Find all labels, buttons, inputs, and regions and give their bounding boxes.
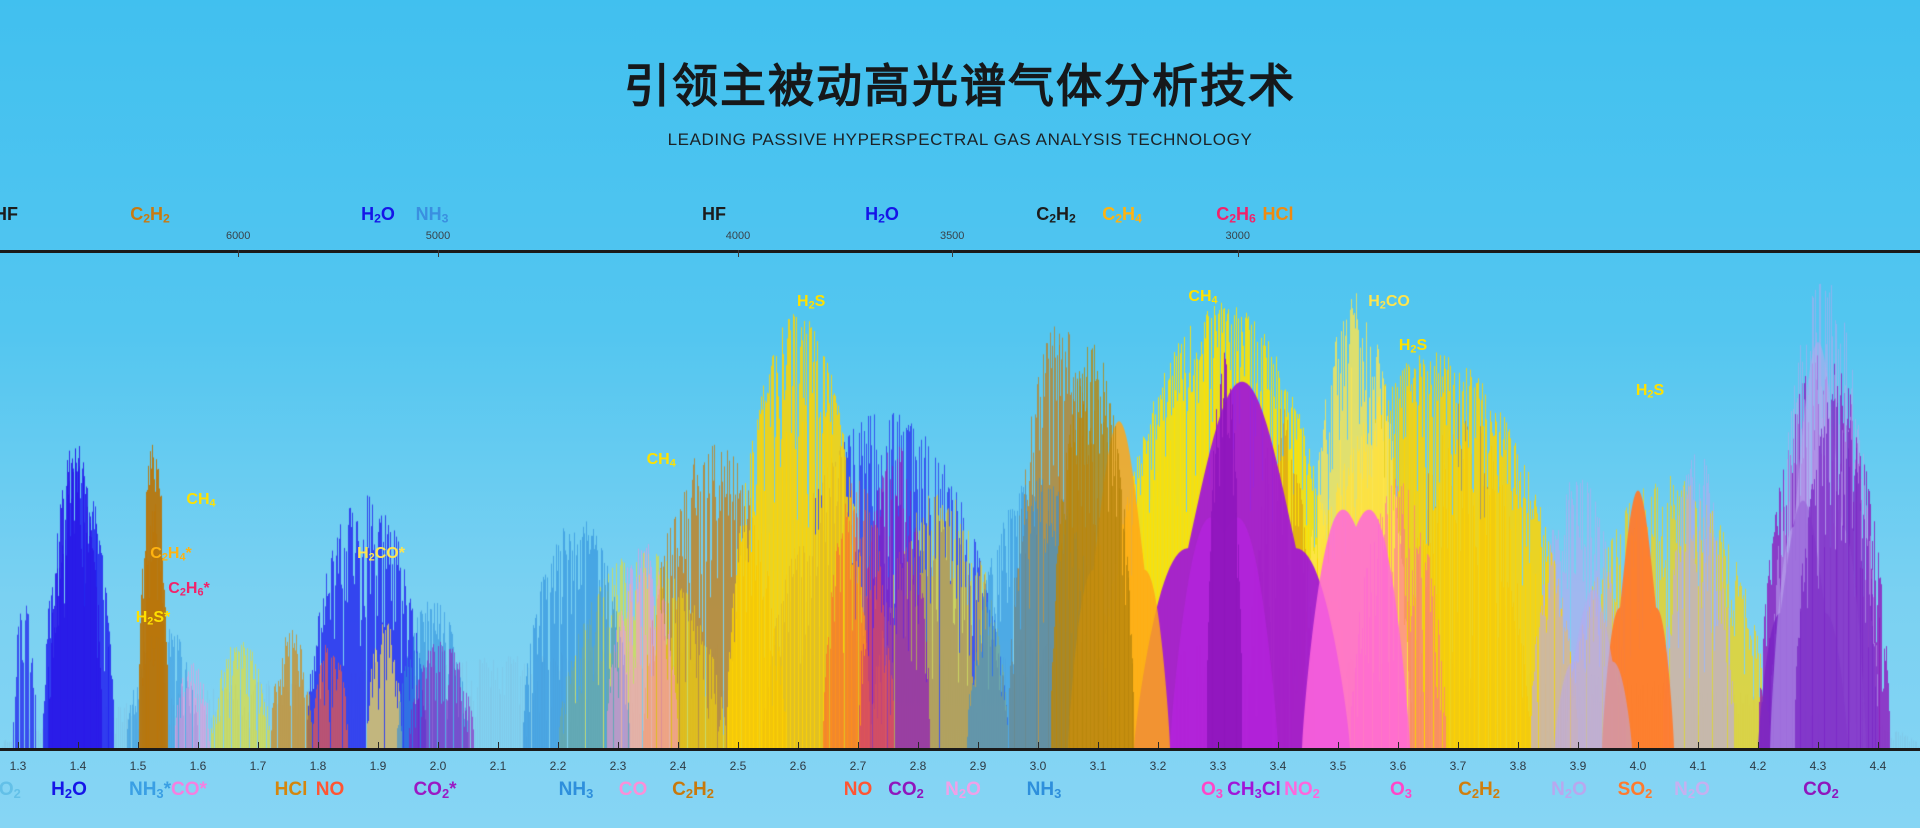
bottom-axis-tick-label: 3.6 xyxy=(1390,759,1407,773)
gas-label-hf: HF xyxy=(702,204,726,225)
gas-label-no: NO xyxy=(316,779,345,801)
inline-gas-label-c2h4: C2H4* xyxy=(150,545,191,563)
header: 引领主被动高光谱气体分析技术 LEADING PASSIVE HYPERSPEC… xyxy=(0,0,1920,200)
gas-label-co2: CO2* xyxy=(413,779,456,801)
gas-label-nh3: NH3 xyxy=(1027,779,1062,801)
bottom-axis-tick-label: 3.0 xyxy=(1030,759,1047,773)
gas-label-co: CO xyxy=(619,779,648,801)
top-axis-tick-label: 5000 xyxy=(426,230,450,242)
top-axis-tick-label: 4000 xyxy=(726,230,750,242)
bottom-axis-tick-label: 3.9 xyxy=(1570,759,1587,773)
bottom-axis-tick-label: 2.5 xyxy=(730,759,747,773)
top-axis-tick-label: 3000 xyxy=(1226,230,1250,242)
gas-label-co2: CO2 xyxy=(0,779,21,801)
bottom-axis-tick-label: 2.6 xyxy=(790,759,807,773)
bottom-axis-tick-label: 4.3 xyxy=(1810,759,1827,773)
gas-label-h2o: H2O xyxy=(361,204,395,226)
page-subtitle: LEADING PASSIVE HYPERSPECTRAL GAS ANALYS… xyxy=(0,110,1920,150)
bottom-axis-tick-label: 3.5 xyxy=(1330,759,1347,773)
gas-label-nh3: NH3* xyxy=(129,779,171,801)
bottom-axis-tick-label: 3.2 xyxy=(1150,759,1167,773)
inline-gas-label-h2s: H2S* xyxy=(136,609,171,627)
gas-label-nh3: NH3 xyxy=(559,779,594,801)
spectrum-plot-area xyxy=(0,253,1920,748)
gas-label-n2o: N2O xyxy=(1674,779,1710,801)
gas-label-o3: O3 xyxy=(1201,779,1223,801)
gas-label-h2o: H2O xyxy=(51,779,87,801)
inline-gas-label-h2co: H2CO xyxy=(1368,293,1410,311)
bottom-axis-tick-label: 2.7 xyxy=(850,759,867,773)
bottom-axis-tick-label: 1.7 xyxy=(250,759,267,773)
gas-label-co2: CO2 xyxy=(1803,779,1839,801)
bottom-axis-tick-label: 1.3 xyxy=(10,759,27,773)
gas-label-no2: NO2 xyxy=(1284,779,1320,801)
gas-label-ch3cl: CH3Cl xyxy=(1227,779,1281,801)
page-title: 引领主被动高光谱气体分析技术 xyxy=(0,0,1920,110)
gas-label-o3: O3 xyxy=(1390,779,1412,801)
inline-gas-label-h2s: H2S xyxy=(1399,337,1427,355)
gas-label-hcl: HCl xyxy=(275,779,308,801)
inline-gas-label-h2co: H2CO* xyxy=(357,545,405,563)
bottom-axis-tick-label: 1.6 xyxy=(190,759,207,773)
inline-gas-label-c2h6: C2H6* xyxy=(168,580,209,598)
gas-label-co2: CO2 xyxy=(888,779,924,801)
inline-gas-label-h2s: H2S xyxy=(797,293,825,311)
bottom-axis-tick-label: 4.2 xyxy=(1750,759,1767,773)
gas-label-hf: HF xyxy=(0,204,18,225)
gas-label-c2h2: C2H2 xyxy=(672,779,714,801)
gas-label-c2h2: C2H2 xyxy=(1458,779,1500,801)
bottom-axis-tick-label: 3.8 xyxy=(1510,759,1527,773)
inline-gas-label-ch4: CH4 xyxy=(1188,288,1217,306)
bottom-axis-tick-label: 2.1 xyxy=(490,759,507,773)
bottom-axis-tick-label: 1.8 xyxy=(310,759,327,773)
bottom-axis-tick-label: 1.5 xyxy=(130,759,147,773)
spectrum-canvas xyxy=(0,253,1920,748)
bottom-axis-tick-label: 2.8 xyxy=(910,759,927,773)
bottom-axis-tick-label: 2.0 xyxy=(430,759,447,773)
gas-label-nh3: NH3 xyxy=(416,204,449,226)
bottom-axis-tick-label: 1.4 xyxy=(70,759,87,773)
inline-gas-label-ch4: CH4 xyxy=(647,451,676,469)
bottom-axis-tick-label: 3.4 xyxy=(1270,759,1287,773)
gas-label-c2h2: C2H2 xyxy=(1036,204,1076,226)
bottom-axis-tick-label: 3.3 xyxy=(1210,759,1227,773)
top-axis-tick-label: 6000 xyxy=(226,230,250,242)
bottom-axis-tick-label: 4.1 xyxy=(1690,759,1707,773)
top-axis-tick-label: 3500 xyxy=(940,230,964,242)
gas-label-n2o: N2O xyxy=(945,779,981,801)
gas-label-h2o: H2O xyxy=(865,204,899,226)
gas-label-no: NO xyxy=(844,779,873,801)
gas-label-c2h2: C2H2 xyxy=(130,204,170,226)
bottom-axis-strip: 1.31.41.51.61.71.81.92.02.12.22.32.42.52… xyxy=(0,751,1920,828)
inline-gas-label-ch4: CH4 xyxy=(186,491,215,509)
gas-label-n2o: N2O xyxy=(1551,779,1587,801)
bottom-axis-tick-label: 2.9 xyxy=(970,759,987,773)
bottom-axis-tick-label: 2.4 xyxy=(670,759,687,773)
bottom-axis-tick-label: 4.0 xyxy=(1630,759,1647,773)
bottom-axis-tick-label: 1.9 xyxy=(370,759,387,773)
bottom-axis-tick-label: 4.4 xyxy=(1870,759,1887,773)
bottom-axis-tick-label: 3.1 xyxy=(1090,759,1107,773)
gas-label-hcl: HCl xyxy=(1263,204,1294,225)
gas-label-c2h6: C2H6 xyxy=(1216,204,1256,226)
gas-label-co: CO* xyxy=(171,779,207,801)
spectrum-chart: HFC2H2H2ONH3HFH2OC2H2C2H4C2H6HCl 6000500… xyxy=(0,200,1920,750)
bottom-axis-tick-label: 3.7 xyxy=(1450,759,1467,773)
poster-root: 引领主被动高光谱气体分析技术 LEADING PASSIVE HYPERSPEC… xyxy=(0,0,1920,828)
bottom-axis-tick-label: 2.2 xyxy=(550,759,567,773)
gas-label-so2: SO2 xyxy=(1618,779,1653,801)
inline-gas-label-h2s: H2S xyxy=(1636,382,1664,400)
bottom-axis-tick-label: 2.3 xyxy=(610,759,627,773)
gas-label-c2h4: C2H4 xyxy=(1102,204,1142,226)
